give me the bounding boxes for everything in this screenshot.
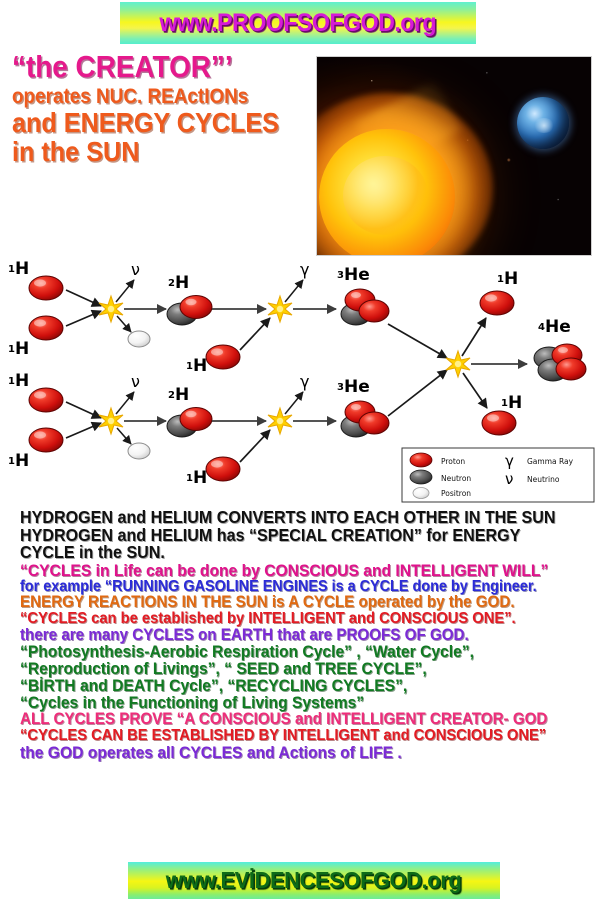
nuclide-label-1H: 1H bbox=[8, 371, 29, 391]
legend-gamma-icon: γ bbox=[505, 452, 514, 470]
headline-block: “the CREATOR”’ operates NUC. REActIONs a… bbox=[12, 52, 312, 166]
headline-line-4: in the SUN bbox=[12, 139, 282, 166]
reaction-arrow bbox=[240, 318, 270, 350]
headline-line-1: “the CREATOR”’ bbox=[12, 52, 282, 82]
proton bbox=[180, 408, 212, 431]
proton-highlight bbox=[211, 460, 223, 467]
earth bbox=[517, 97, 569, 149]
proton-highlight bbox=[34, 319, 46, 326]
reaction-arrow bbox=[66, 402, 101, 418]
nuclide-label-1H: 1H bbox=[501, 393, 522, 413]
body-text-block: HYDROGEN and HELIUM CONVERTS INTO EACH O… bbox=[20, 509, 600, 761]
proton-highlight bbox=[351, 404, 361, 410]
nuclide-label-1H: 1H bbox=[8, 451, 29, 471]
body-text-line-9: “Photosynthesis-Aerobic Respiration Cycl… bbox=[20, 643, 554, 660]
body-text-line-6: ENERGY REACTIONS IN THE SUN is A CYCLE o… bbox=[20, 594, 554, 611]
body-text-line-10: “Reproduction of Livings”, “ SEED and TR… bbox=[20, 660, 554, 677]
nuclide-label-3He: 3He bbox=[337, 377, 370, 397]
proton-highlight bbox=[34, 279, 46, 286]
body-text-line-13: ALL CYCLES PROVE “A CONSCIOUS and INTELL… bbox=[20, 711, 554, 728]
gamma-label: γ bbox=[300, 372, 309, 391]
positron-arrow bbox=[117, 428, 131, 444]
legend-gamma-label: Gamma Ray bbox=[527, 457, 574, 466]
top-url-banner[interactable]: www.PROOFSOFGOD.org bbox=[120, 2, 476, 44]
legend-neutron-icon bbox=[410, 470, 432, 484]
sun-and-earth-image bbox=[316, 56, 592, 256]
nuclide-label-1H: 1H bbox=[186, 468, 207, 488]
diagram-legend: Proton Neutron Positron γ Gamma Ray ν Ne… bbox=[402, 448, 594, 502]
top-url-text: www.PROOFSOFGOD.org bbox=[160, 9, 437, 38]
proton-highlight bbox=[186, 299, 197, 305]
helium-4-nucleus bbox=[534, 344, 586, 381]
sun bbox=[319, 129, 455, 256]
proton bbox=[359, 300, 389, 322]
helium-3-nucleus bbox=[341, 289, 389, 325]
positron bbox=[128, 331, 150, 347]
gamma-label: γ bbox=[300, 260, 309, 279]
legend-positron-label: Positron bbox=[441, 489, 471, 498]
bottom-url-banner[interactable]: www.EVİDENCESOFGOD.org bbox=[128, 862, 500, 899]
legend-neutron-label: Neutron bbox=[441, 474, 471, 483]
legend-proton-label: Proton bbox=[441, 457, 465, 466]
body-text-line-4: “CYCLES in Life can be done by CONSCIOUS… bbox=[20, 562, 554, 579]
proton-proton-chain-diagram: 1H 1H ν 2H 1H bbox=[0, 258, 600, 508]
nuclide-label-1H: 1H bbox=[8, 259, 29, 279]
bottom-url-text: www.EVİDENCESOFGOD.org bbox=[166, 867, 462, 894]
body-text-line-8: there are many CYCLES on EARTH that are … bbox=[20, 627, 554, 644]
proton bbox=[29, 276, 63, 300]
legend-neutrino-label: Neutrino bbox=[527, 475, 560, 484]
fusion-star bbox=[268, 408, 292, 434]
fusion-star bbox=[446, 351, 470, 377]
reaction-arrow bbox=[66, 311, 101, 326]
body-text-line-12: “Cycles in the Functioning of Living Sys… bbox=[20, 694, 554, 711]
nuclide-label-2H: 2H bbox=[168, 273, 189, 293]
reaction-arrow bbox=[388, 324, 447, 358]
nuclide-label-4He: 4He bbox=[538, 317, 571, 337]
legend-neutrino-icon: ν bbox=[505, 470, 513, 488]
proton bbox=[359, 412, 389, 434]
proton-highlight bbox=[34, 391, 46, 398]
fusion-star bbox=[268, 296, 292, 322]
neutrino-label: ν bbox=[131, 372, 140, 391]
legend-proton-icon bbox=[410, 453, 432, 467]
nuclide-label-1H: 1H bbox=[8, 339, 29, 359]
proton bbox=[29, 316, 63, 340]
positron-arrow bbox=[117, 316, 131, 332]
neutrino-arrow bbox=[116, 280, 134, 302]
proton-highlight bbox=[211, 348, 223, 355]
body-text-line-5: for example “RUNNING GASOLINE ENGINES is… bbox=[20, 579, 559, 595]
deuterium-nucleus bbox=[167, 408, 212, 438]
proton bbox=[29, 388, 63, 412]
gamma-arrow bbox=[285, 392, 303, 414]
helium-3-nucleus bbox=[341, 401, 389, 437]
proton-out-arrow bbox=[463, 373, 487, 408]
neutrino-label: ν bbox=[131, 260, 140, 279]
nuclide-label-1H: 1H bbox=[497, 269, 518, 289]
proton-highlight bbox=[558, 347, 568, 353]
proton-highlight bbox=[485, 294, 497, 301]
reaction-arrow bbox=[388, 370, 447, 416]
proton-highlight bbox=[34, 431, 46, 438]
poster-page: www.PROOFSOFGOD.org “the CREATOR”’ opera… bbox=[0, 0, 600, 900]
gamma-arrow bbox=[285, 280, 303, 302]
proton bbox=[556, 358, 586, 380]
neutrino-arrow bbox=[116, 392, 134, 414]
proton-out-arrow bbox=[462, 318, 486, 356]
proton-highlight bbox=[351, 292, 361, 298]
body-text-line-7: “CYCLES can be established by INTELLIGEN… bbox=[20, 611, 554, 627]
proton bbox=[482, 411, 516, 435]
proton bbox=[29, 428, 63, 452]
headline-line-2: operates NUC. REActIONs bbox=[12, 87, 282, 107]
nuclide-label-2H: 2H bbox=[168, 385, 189, 405]
body-text-line-11: “BİRTH and DEATH Cycle”, “RECYCLING CYCL… bbox=[20, 677, 554, 694]
reaction-arrow bbox=[66, 423, 101, 438]
proton bbox=[206, 345, 240, 369]
deuterium-nucleus bbox=[167, 296, 212, 326]
headline-line-3: and ENERGY CYCLES bbox=[12, 110, 282, 137]
nuclide-label-1H: 1H bbox=[186, 356, 207, 376]
reaction-arrow bbox=[66, 290, 101, 306]
proton bbox=[206, 457, 240, 481]
body-text-line-14: “CYCLES CAN BE ESTABLISHED BY INTELLIGEN… bbox=[20, 728, 554, 744]
proton-highlight bbox=[186, 411, 197, 417]
proton bbox=[180, 296, 212, 319]
nuclide-label-3He: 3He bbox=[337, 265, 370, 285]
positron bbox=[128, 443, 150, 459]
body-text-line-15: the GOD operates all CYCLES and Actions … bbox=[20, 744, 554, 761]
proton bbox=[480, 291, 514, 315]
legend-positron-icon bbox=[413, 488, 429, 499]
body-text-line-3: CYCLE in the SUN. bbox=[20, 544, 554, 562]
reaction-arrow bbox=[240, 430, 270, 462]
proton-highlight bbox=[487, 414, 499, 421]
